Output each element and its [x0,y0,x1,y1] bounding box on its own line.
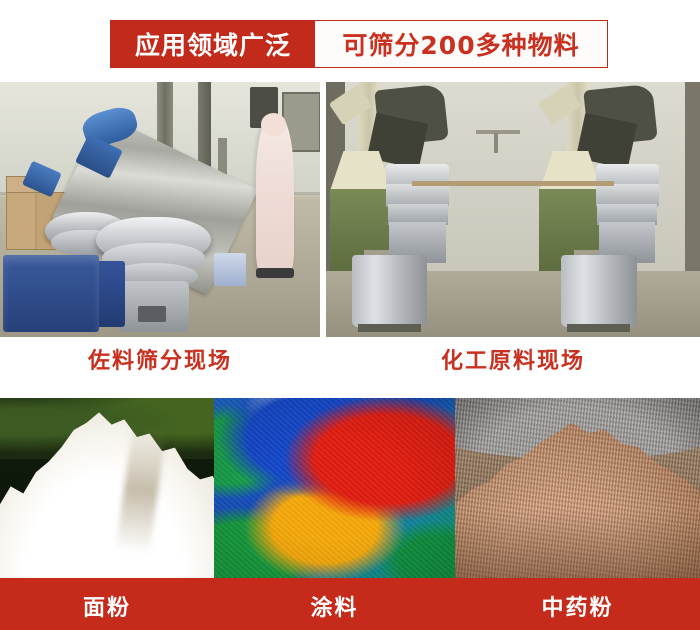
photo-herbal-medicine-powder[interactable] [455,398,700,578]
gallery-bottom-row [0,398,700,578]
label-flour: 面粉 [0,590,214,622]
stainless-drum [352,255,427,326]
header-banner: 应用领域广泛 可筛分200多种物料 [110,20,608,68]
photo-spice-sieving-site[interactable] [0,82,320,337]
worker-head [261,113,287,136]
blue-crate-front [3,255,99,332]
herb-powder-shadow [455,510,700,578]
drum-feet [567,324,630,332]
gallery-top-row [0,82,700,337]
pigment-vignette [214,398,455,578]
gallery-bottom-label-bar: 面粉 涂料 中药粉 [0,578,700,630]
sieve-unit-left [330,82,487,337]
sieve-unit-right [539,82,696,337]
photo-flour[interactable] [0,398,214,578]
sieve-nameplate [138,306,167,321]
promo-page: 应用领域广泛 可筛分200多种物料 [0,0,700,630]
worker-body [256,115,294,276]
header-badge: 应用领域广泛 [111,21,315,67]
label-coating: 涂料 [214,590,455,622]
header-headline: 可筛分200多种物料 [315,21,607,67]
caption-chemical-material-site: 化工原料现场 [326,343,700,375]
label-herbal-powder: 中药粉 [455,590,700,622]
horizontal-rail [412,181,614,185]
stainless-drum [561,255,636,326]
photo-chemical-material-site[interactable] [326,82,700,337]
worker-shoes [256,268,294,278]
drum-feet [358,324,421,332]
photo-coating-pigment[interactable] [214,398,455,578]
wall-hook-drop [494,133,498,153]
gallery-top-caption-row: 佐料筛分现场 化工原料现场 [0,337,700,398]
plastic-stool [214,253,246,286]
caption-spice-sieving-site: 佐料筛分现场 [0,343,320,375]
